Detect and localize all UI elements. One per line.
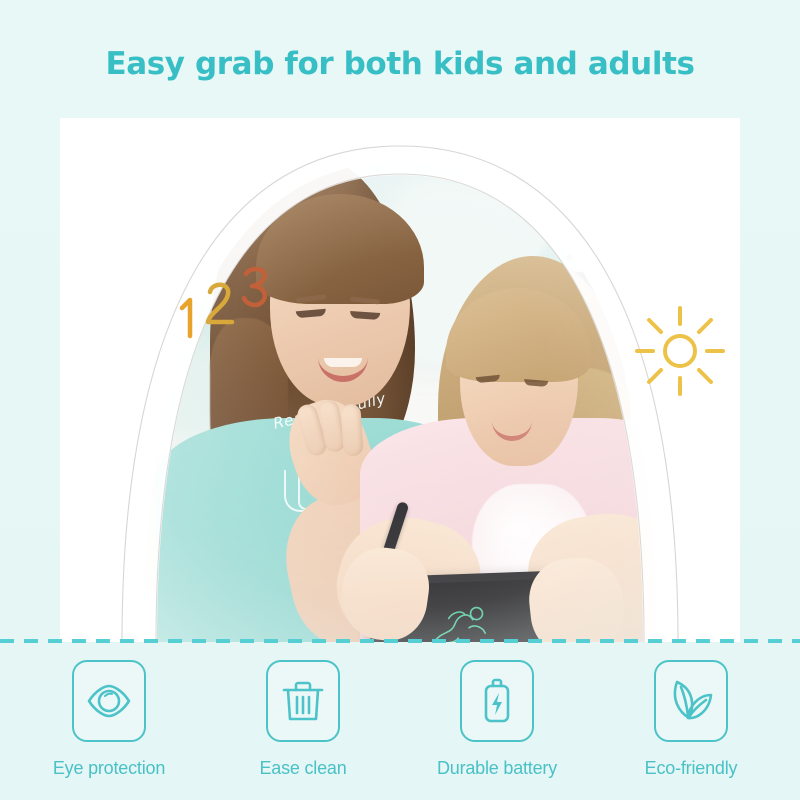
page-title: Easy grab for both kids and adults: [0, 46, 800, 82]
battery-icon: [473, 677, 521, 725]
feature-item-durable-battery: Durable battery: [431, 660, 563, 779]
hero-photo: Read carefully: [60, 118, 740, 642]
dashed-divider: [0, 639, 800, 643]
feature-icon-box: [654, 660, 728, 742]
bunny-eye-right: [603, 254, 610, 261]
bunny-eye-left: [566, 254, 573, 261]
feature-label: Durable battery: [437, 758, 557, 779]
product-banner: Easy grab for both kids and adults Read …: [0, 0, 800, 800]
feature-list: Eye protection Ease clean: [0, 660, 800, 779]
photo-scene: Read carefully: [60, 118, 740, 642]
eye-icon: [85, 677, 133, 725]
feature-label: Eco-friendly: [645, 758, 738, 779]
feature-item-eye-protection: Eye protection: [43, 660, 175, 779]
feature-icon-box: [460, 660, 534, 742]
feature-icon-box: [266, 660, 340, 742]
tablet-drawing: [424, 599, 502, 642]
woman-finger-3: [340, 403, 364, 456]
feature-icon-box: [72, 660, 146, 742]
trash-icon: [279, 677, 327, 725]
feature-item-ease-clean: Ease clean: [237, 660, 369, 779]
feature-item-eco-friendly: Eco-friendly: [625, 660, 757, 779]
feature-label: Ease clean: [259, 758, 346, 779]
leaves-icon: [667, 677, 715, 725]
feature-label: Eye protection: [53, 758, 165, 779]
